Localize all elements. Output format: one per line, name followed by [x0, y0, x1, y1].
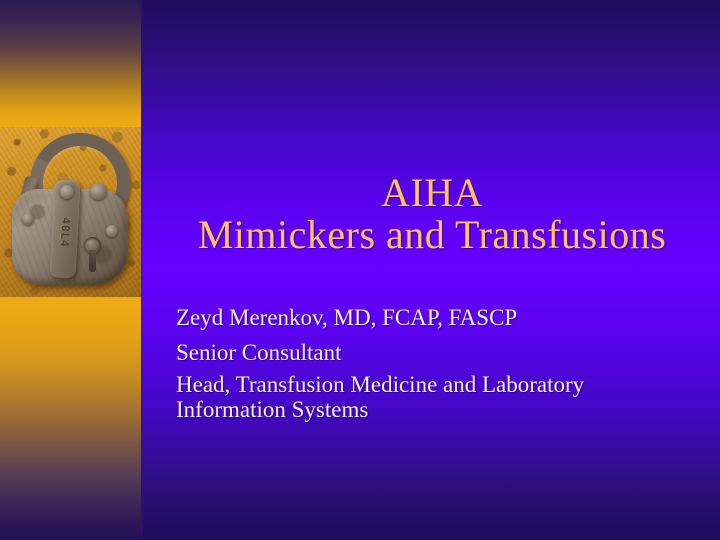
padlock-rivet-left [22, 213, 34, 225]
padlock-hasp-plate: 40L4 [49, 179, 80, 278]
sidebar-gradient-bottom [0, 297, 143, 540]
title-slide: 40L4 AIHA Mimickers and Transfusions Zey… [0, 0, 720, 540]
sidebar-gradient-top [0, 0, 143, 127]
subtitle-line-role: Senior Consultant [176, 338, 692, 369]
padlock-illustration: 40L4 [8, 133, 136, 291]
slide-subtitle: Zeyd Merenkov, MD, FCAP, FASCP Senior Co… [176, 303, 692, 423]
padlock-rivet-top-right [90, 183, 107, 200]
subtitle-line-department-b: Information Systems [176, 397, 692, 422]
padlock-photo: 40L4 [0, 127, 143, 297]
title-line-1: AIHA [168, 172, 696, 214]
sidebar-decorative-band: 40L4 [0, 0, 143, 540]
padlock-stamped-number: 40L4 [57, 210, 72, 255]
padlock-rivet-bottom-right [106, 225, 118, 237]
subtitle-line-department-a: Head, Transfusion Medicine and Laborator… [176, 372, 692, 397]
title-line-2: Mimickers and Transfusions [168, 214, 696, 256]
slide-title: AIHA Mimickers and Transfusions [168, 172, 696, 257]
padlock-keyhole [84, 237, 101, 254]
subtitle-line-author: Zeyd Merenkov, MD, FCAP, FASCP [176, 303, 692, 334]
padlock-hasp-pin [60, 185, 75, 200]
sidebar-edge-seam [141, 0, 143, 540]
